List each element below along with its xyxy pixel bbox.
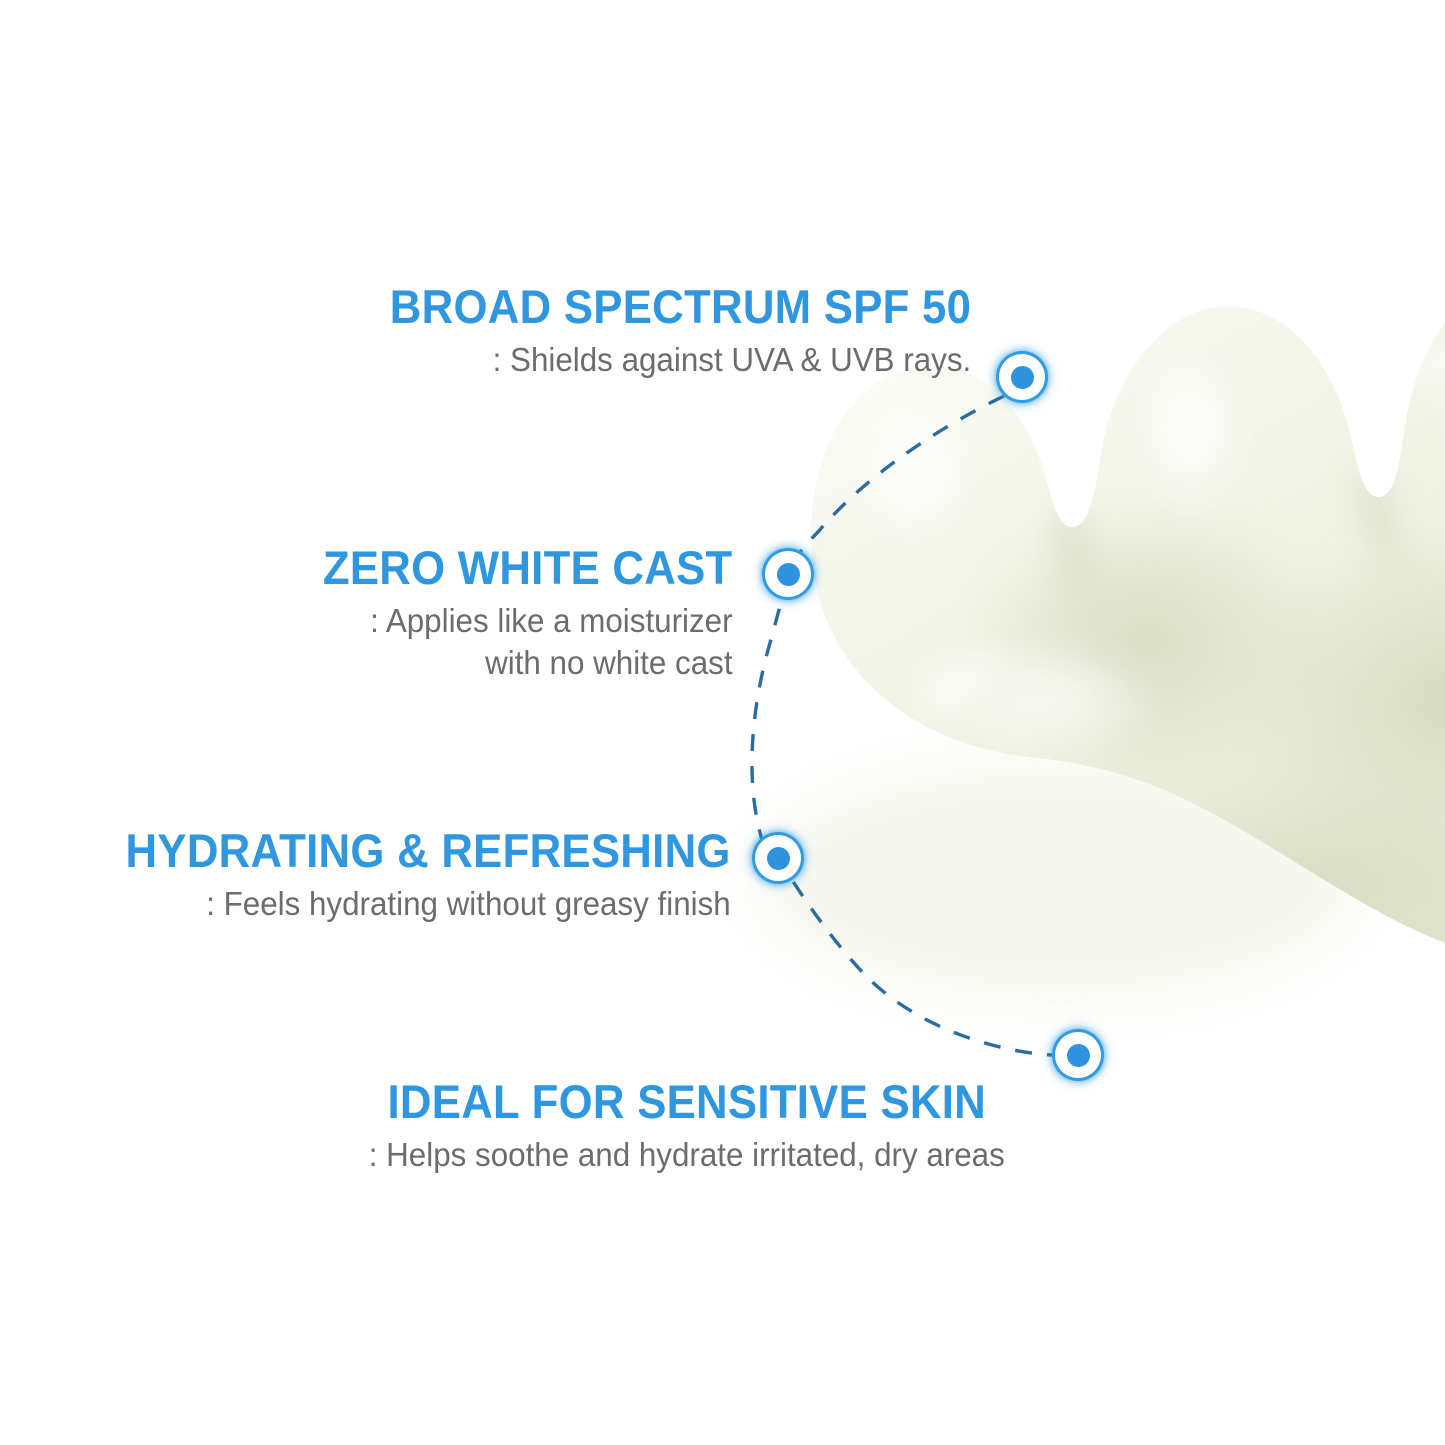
marker-dot-icon <box>1011 366 1034 389</box>
feature-title: BROAD SPECTRUM SPF 50 <box>390 282 971 332</box>
feature-marker-sensitive-skin[interactable] <box>1049 1026 1107 1084</box>
feature-block-hydrating-refreshing: HYDRATING & REFRESHING : Feels hydrating… <box>80 826 731 925</box>
feature-subtitle-line: : Shields against UVA & UVB rays. <box>377 339 971 381</box>
feature-block-zero-white-cast: ZERO WHITE CAST : Applies like a moistur… <box>292 543 733 684</box>
feature-title: ZERO WHITE CAST <box>323 543 733 593</box>
cream-swatch-illustration <box>0 0 1445 1445</box>
feature-subtitle-line: : Helps soothe and hydrate irritated, dr… <box>369 1134 1005 1176</box>
infographic-canvas: BROAD SPECTRUM SPF 50 : Shields against … <box>0 0 1445 1445</box>
marker-dot-icon <box>1067 1044 1090 1067</box>
feature-block-broad-spectrum: BROAD SPECTRUM SPF 50 : Shields against … <box>346 282 971 381</box>
marker-dot-icon <box>767 847 790 870</box>
connector-path <box>752 396 1052 1055</box>
feature-subtitle: : Shields against UVA & UVB rays. <box>377 339 971 381</box>
marker-dot-icon <box>777 563 800 586</box>
feature-subtitle: : Feels hydrating without greasy finish <box>113 883 731 925</box>
dashed-connector-curve <box>0 0 1445 1445</box>
feature-subtitle-line: with no white cast <box>314 642 733 684</box>
feature-marker-zero-white-cast[interactable] <box>759 545 817 603</box>
feature-subtitle-line: : Applies like a moisturizer <box>314 600 733 642</box>
feature-marker-broad-spectrum[interactable] <box>993 348 1051 406</box>
feature-title: IDEAL FOR SENSITIVE SKIN <box>375 1077 998 1127</box>
feature-subtitle-line: : Feels hydrating without greasy finish <box>113 883 731 925</box>
feature-block-sensitive-skin: IDEAL FOR SENSITIVE SKIN : Helps soothe … <box>352 1077 1022 1176</box>
feature-subtitle: : Helps soothe and hydrate irritated, dr… <box>369 1134 1005 1176</box>
feature-marker-hydrating-refreshing[interactable] <box>749 829 807 887</box>
feature-subtitle: : Applies like a moisturizer with no whi… <box>314 600 733 684</box>
feature-title: HYDRATING & REFRESHING <box>126 826 731 876</box>
